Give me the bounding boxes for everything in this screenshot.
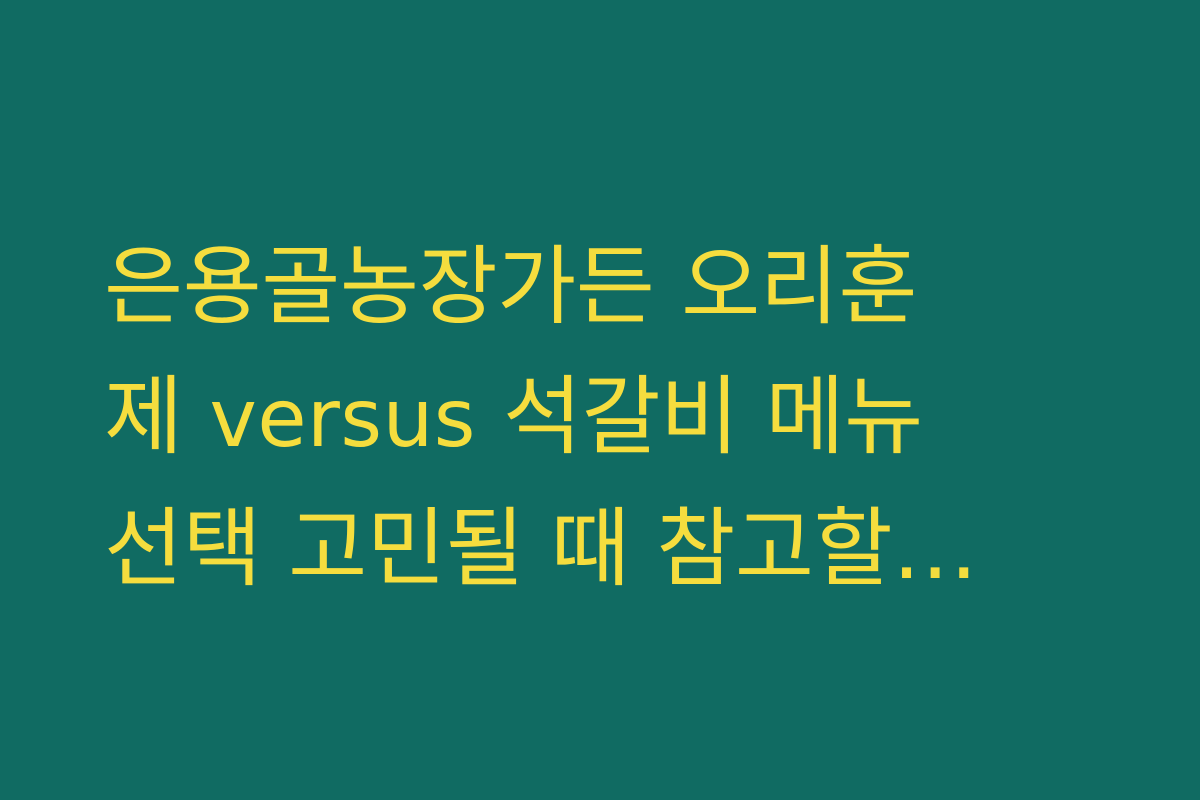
- text-card: 은용골농장가든 오리훈 제 versus 석갈비 메뉴 선택 고민될 때 참고할…: [0, 0, 1200, 800]
- headline-line-3-text: 선택 고민될 때 참고할: [104, 499, 892, 599]
- headline-line-2: 제 versus 석갈비 메뉴: [104, 352, 1114, 484]
- truncation-ellipsis: …: [892, 499, 979, 599]
- headline-line-3: 선택 고민될 때 참고할…: [104, 484, 1114, 614]
- headline-block: 은용골농장가든 오리훈 제 versus 석갈비 메뉴 선택 고민될 때 참고할…: [104, 222, 1114, 614]
- headline-line-1-text: 은용골농장가든 오리훈: [104, 237, 917, 337]
- headline-line-1: 은용골농장가든 오리훈: [104, 222, 1114, 352]
- headline-line-2-latin-word: versus: [209, 372, 476, 465]
- headline-line-2-prefix: 제: [104, 367, 209, 467]
- headline-line-2-suffix: 석갈비 메뉴: [476, 367, 923, 467]
